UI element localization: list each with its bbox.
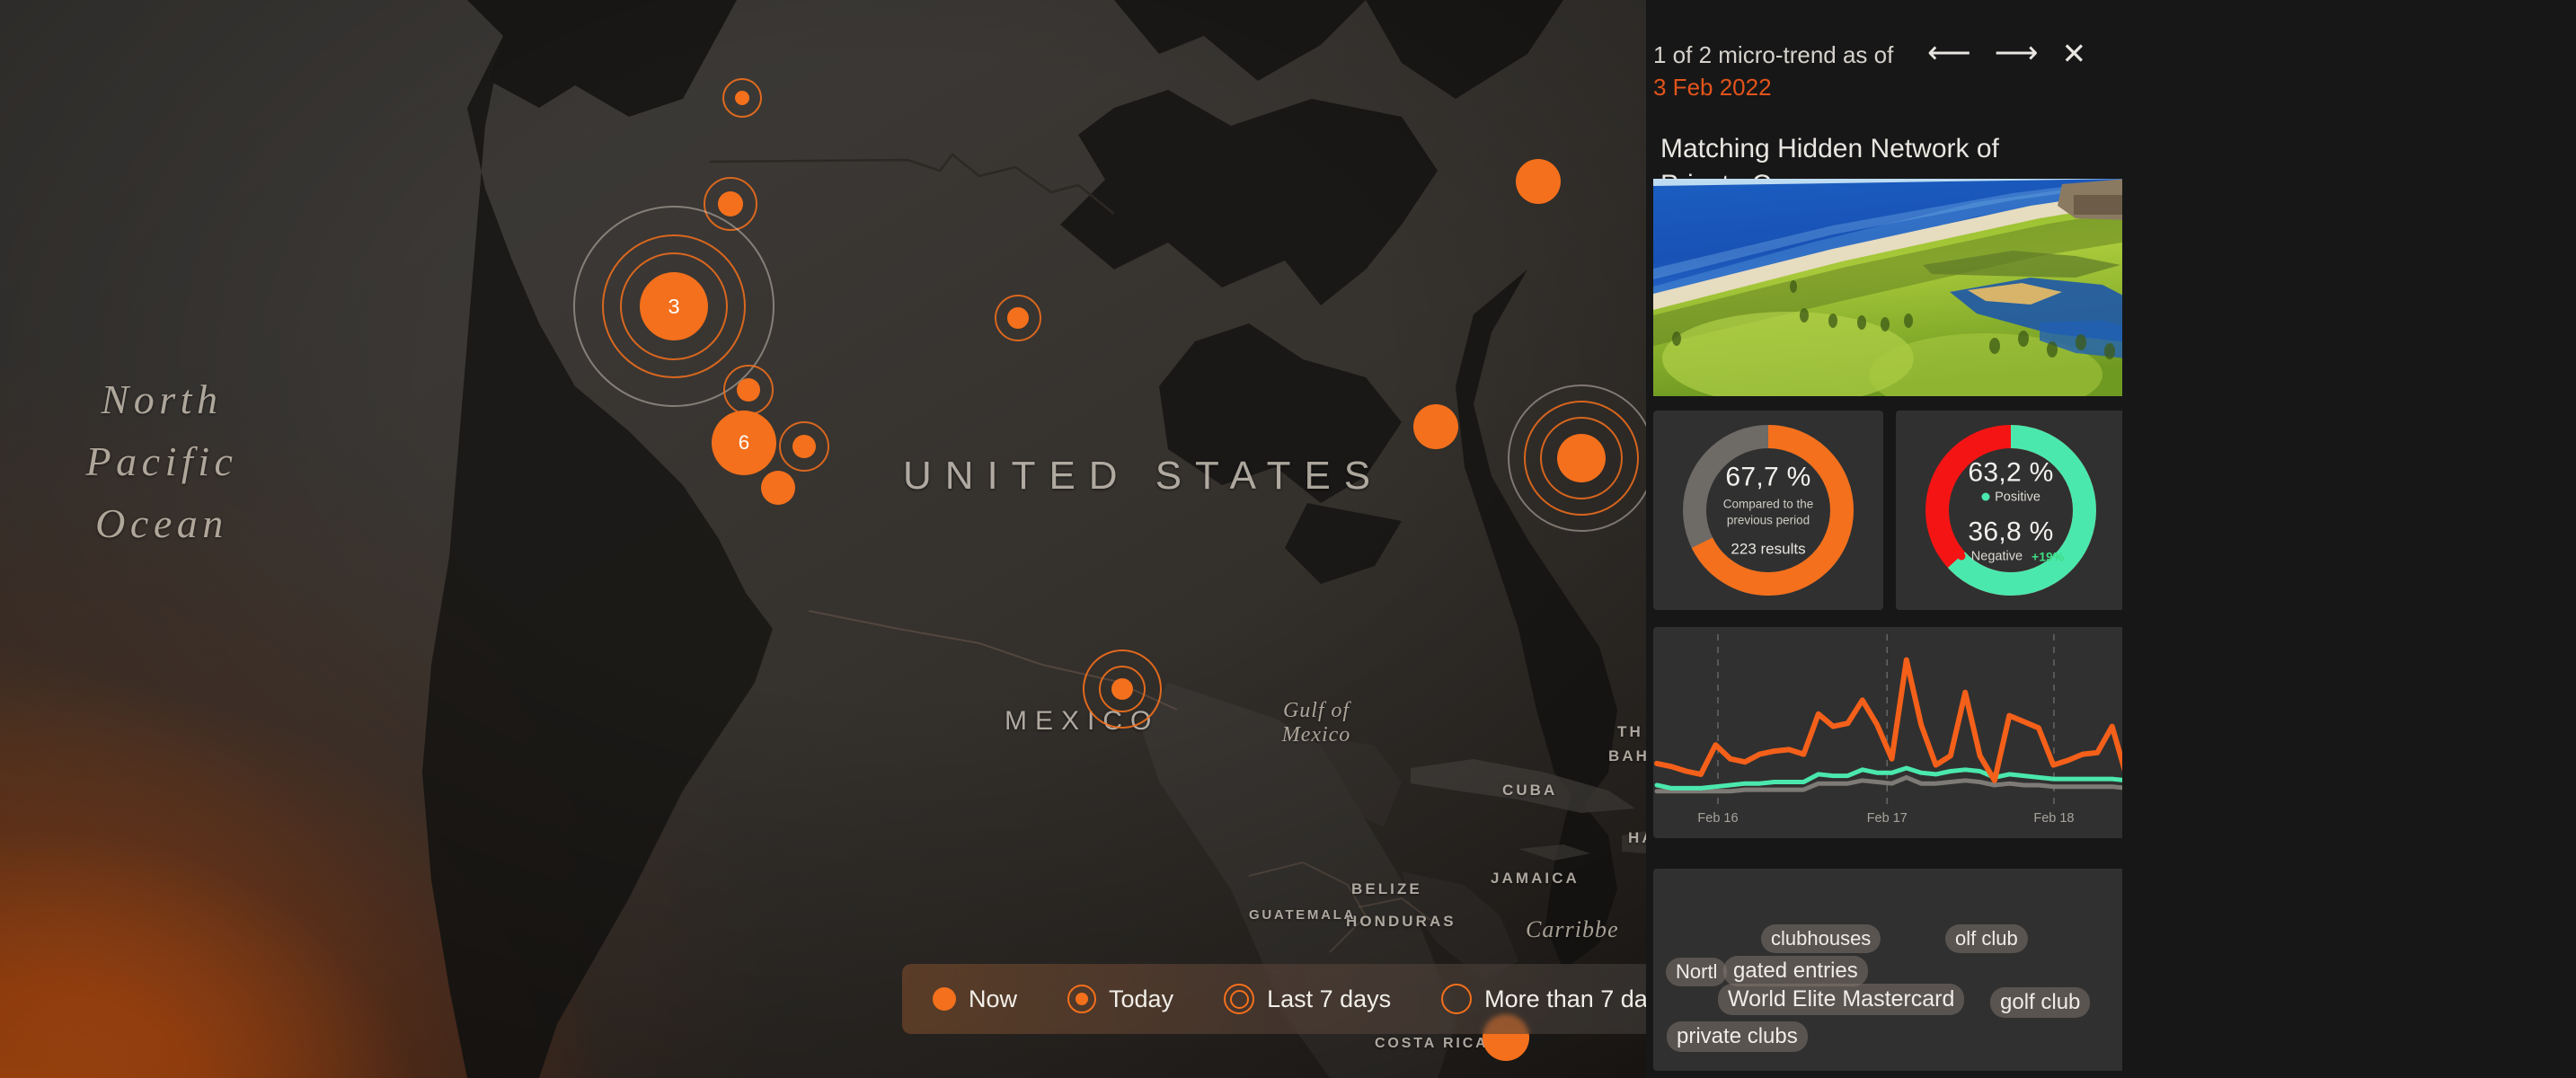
legend-item-now[interactable]: Now [933, 985, 1017, 1013]
panel-empty-area [2122, 0, 2576, 1078]
now-glyph-icon [933, 987, 956, 1011]
map-marker-dot[interactable]: 3 [640, 272, 708, 340]
app-root: North Pacific Ocean Gulf of Mexico Carri… [0, 0, 2576, 1078]
volume-caption: Compared to the previous period [1723, 497, 1814, 528]
last-7-days-glyph-icon [1224, 984, 1254, 1014]
map-label-united-states: UNITED STATES [903, 454, 1384, 499]
map-marker-dot[interactable] [718, 191, 743, 216]
sentiment-card[interactable]: 63,2 % Positive 36,8 % Negative +19% [1896, 411, 2126, 610]
sentiment-delta-badge: +19% [2032, 549, 2064, 563]
trend-photo[interactable] [1653, 179, 2127, 396]
sentiment-donut: 63,2 % Positive 36,8 % Negative +19% [1919, 419, 2103, 603]
volume-caption-line1: Compared to the [1723, 497, 1814, 512]
map-label-gulf-of-mexico: Gulf of Mexico [1249, 699, 1384, 747]
sentiment-positive-label: Positive [1995, 490, 2040, 504]
map-canvas[interactable]: North Pacific Ocean Gulf of Mexico Carri… [0, 0, 1646, 1078]
map-label-guatemala: GUATEMALA [1249, 907, 1356, 923]
panel-date: 3 Feb 2022 [1653, 72, 2040, 104]
volume-caption-line2: previous period [1723, 512, 1814, 527]
metric-cards: 67,7 % Compared to the previous period 2… [1653, 411, 2127, 610]
chart-xtick: Feb 18 [2033, 811, 2074, 826]
map-label-caribbean: Carribbe [1526, 916, 1646, 942]
today-glyph-icon [1067, 985, 1096, 1013]
sentiment-donut-center: 63,2 % Positive 36,8 % Negative +19% [1919, 419, 2103, 603]
map-marker-dot[interactable] [1516, 159, 1561, 204]
time-filter-legend[interactable]: Now Today Last 7 days More than 7 days a… [902, 964, 1646, 1034]
caribbean-line-1: Carribbe [1526, 916, 1646, 942]
chart-xtick: Feb 17 [1867, 811, 1908, 826]
legend-item-today[interactable]: Today [1067, 985, 1173, 1013]
negative-bullet-icon [1958, 552, 1966, 561]
ocean-line-2: Pacific [18, 437, 305, 485]
map-label-north-pacific-ocean: North Pacific Ocean [18, 376, 305, 547]
map-label-costa-rica: COSTA RICA [1375, 1035, 1456, 1053]
more-than-7-days-glyph-icon [1441, 984, 1472, 1014]
prev-arrow-icon[interactable]: ⟵ [1927, 38, 1971, 68]
keyword-tag[interactable]: Nortl [1666, 958, 1727, 986]
legend-label-today: Today [1109, 985, 1173, 1013]
legend-label-more-than-7-days: More than 7 days ago [1484, 985, 1646, 1013]
map-label-cuba: CUBA [1502, 782, 1557, 800]
panel-header: 1 of 2 micro-trend as of 3 Feb 2022 ⟵ ⟶ … [1646, 0, 2122, 204]
map-label-jamaica: JAMAICA [1491, 870, 1580, 888]
keyword-tag[interactable]: golf club [1990, 987, 2090, 1018]
golf-course-photo-icon [1653, 179, 2127, 396]
chart-xtick: Feb 16 [1697, 811, 1738, 826]
ocean-line-1: North [18, 376, 305, 423]
gulf-line-2: Mexico [1249, 723, 1384, 747]
sentiment-positive-percent: 63,2 % [1968, 457, 2053, 488]
costa-rica-text: COSTA RICA [1375, 1036, 1489, 1051]
keyword-cloud-card[interactable]: clubhousesolf clubNortlgated entriesWorl… [1653, 869, 2127, 1071]
ocean-line-3: Ocean [18, 499, 305, 547]
keyword-tag[interactable]: clubhouses [1761, 924, 1881, 953]
trend-line-chart-card[interactable]: Feb 16Feb 17Feb 18 [1653, 627, 2127, 838]
map-marker-dot[interactable] [792, 435, 816, 458]
sentiment-negative-label: Negative [1971, 549, 2023, 563]
positive-bullet-icon [1981, 493, 1989, 501]
legend-label-last-7-days: Last 7 days [1267, 985, 1391, 1013]
volume-card[interactable]: 67,7 % Compared to the previous period 2… [1653, 411, 1883, 610]
map-marker-dot[interactable] [1111, 678, 1133, 700]
map-marker-dot[interactable]: 6 [712, 411, 776, 475]
map-marker-dot[interactable] [735, 91, 749, 105]
map-marker-dot[interactable] [1413, 404, 1458, 449]
keyword-tag[interactable]: gated entries [1723, 956, 1868, 986]
volume-donut-center: 67,7 % Compared to the previous period 2… [1677, 419, 1861, 603]
keyword-tag[interactable]: private clubs [1667, 1021, 1808, 1052]
close-icon[interactable]: ✕ [2062, 39, 2087, 68]
micro-trend-panel: 1 of 2 micro-trend as of 3 Feb 2022 ⟵ ⟶ … [1646, 0, 2576, 1078]
volume-percent: 67,7 % [1725, 463, 1810, 493]
legend-label-now: Now [969, 985, 1017, 1013]
volume-donut: 67,7 % Compared to the previous period 2… [1677, 419, 1861, 603]
map-label-the: TH [1617, 723, 1643, 741]
sentiment-negative-percent: 36,8 % [1968, 517, 2053, 547]
panel-content: 1 of 2 micro-trend as of 3 Feb 2022 ⟵ ⟶ … [1646, 0, 2122, 1078]
map-marker-dot[interactable] [1557, 434, 1606, 482]
map-label-bahamas: BAHA [1608, 747, 1646, 765]
trend-line-chart-icon [1653, 627, 2127, 838]
keyword-tag[interactable]: olf club [1945, 924, 2028, 953]
next-arrow-icon[interactable]: ⟶ [1995, 38, 2039, 68]
panel-nav-buttons[interactable]: ⟵ ⟶ ✕ [1927, 38, 2086, 68]
sentiment-negative-row: Negative +19% [1958, 549, 2064, 563]
gulf-line-1: Gulf of [1249, 699, 1384, 723]
map-label-haiti: HA [1628, 829, 1646, 847]
map-label-honduras: HONDURAS [1346, 913, 1456, 931]
volume-results: 223 results [1731, 540, 1805, 558]
map-label-belize: BELIZE [1351, 880, 1422, 898]
legend-item-last-7-days[interactable]: Last 7 days [1224, 984, 1391, 1014]
chart-series-mentions [1657, 660, 2127, 781]
map-marker-dot[interactable] [1007, 307, 1029, 329]
map-marker-dot[interactable] [761, 471, 795, 505]
legend-item-more-than-7-days[interactable]: More than 7 days ago [1441, 984, 1646, 1014]
keyword-tag[interactable]: World Elite Mastercard [1718, 984, 1964, 1015]
map-marker-dot[interactable] [737, 378, 760, 402]
panel-counter-text: 1 of 2 micro-trend as of [1653, 41, 1893, 68]
sentiment-positive-row: Positive [1981, 490, 2040, 504]
